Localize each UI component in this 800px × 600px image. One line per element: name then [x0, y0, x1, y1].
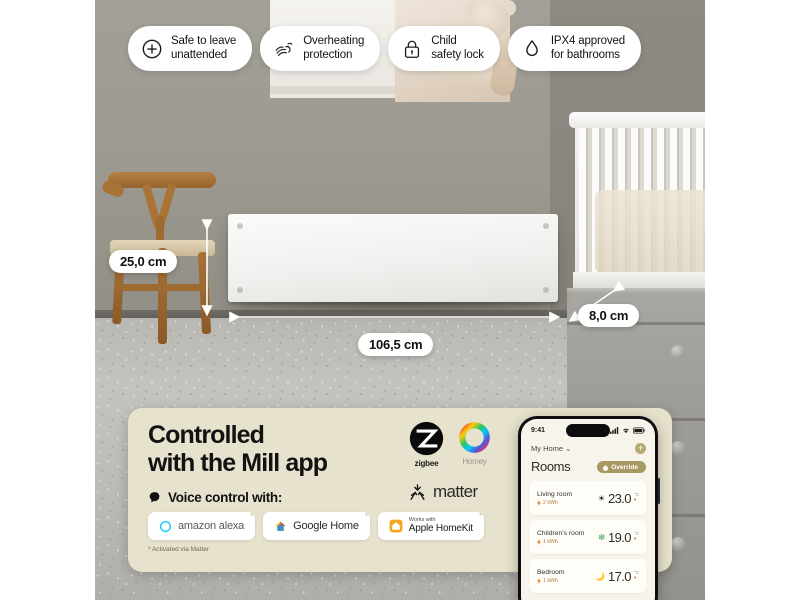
- override-button[interactable]: Override: [597, 461, 646, 473]
- footnote-star: *: [250, 513, 253, 520]
- feature-badge-ipx4: IPX4 approved for bathrooms: [508, 26, 641, 71]
- dresser-knob: [671, 345, 685, 359]
- room-info: Bedroom 1 kWh: [537, 569, 565, 584]
- alexa-icon: [159, 520, 172, 533]
- crib-bedding: [595, 190, 705, 274]
- protocol-label: matter: [433, 482, 478, 502]
- heater-mount-dot: [543, 223, 549, 229]
- flame-icon: [603, 464, 608, 471]
- homekit-icon: [389, 519, 403, 533]
- footnote-star: *: [479, 513, 482, 520]
- protocol-zigbee: zigbee: [408, 420, 445, 468]
- phone-side-button: [658, 478, 660, 504]
- room-info: Living room 2 kWh: [537, 491, 572, 506]
- status-time: 9:41: [531, 427, 545, 434]
- room-temp-group: 🌙 17.0 °C ▾: [595, 569, 639, 584]
- assistant-label: Apple HomeKit: [409, 524, 473, 534]
- battery-icon: [633, 427, 645, 434]
- feature-badge-overheating: Overheating protection: [260, 26, 380, 71]
- room-power-value: 1 kWh: [543, 539, 558, 545]
- protocol-logo-group: zigbee Homey: [408, 420, 520, 502]
- feature-badge-label: IPX4 approved for bathrooms: [551, 35, 625, 62]
- dresser-knob: [671, 441, 685, 455]
- homey-icon: [457, 420, 492, 455]
- room-row[interactable]: Children's room 1 kWh ❇ 19.0: [529, 520, 647, 554]
- room-power: 1 kWh: [537, 578, 565, 584]
- chevron-down-icon: ⌄: [565, 444, 571, 453]
- bolt-icon: [537, 539, 541, 545]
- temp-down-arrow: ▾: [634, 576, 639, 581]
- phone-screen: 9:41: [521, 419, 655, 600]
- crib-top-rail: [569, 112, 705, 128]
- room-power: 2 kWh: [537, 500, 572, 506]
- footnote-star: *: [365, 513, 368, 520]
- google-home-icon: [274, 520, 287, 533]
- protocol-matter: matter: [408, 482, 520, 502]
- water-drop-icon: [521, 38, 543, 60]
- assistant-badge-alexa[interactable]: amazon alexa *: [148, 512, 255, 540]
- dynamic-island: [566, 424, 610, 437]
- assistant-badge-apple-homekit[interactable]: Works with Apple HomeKit *: [378, 512, 484, 540]
- temperature-unit: °C ▾: [634, 532, 639, 542]
- feature-badge-label: Safe to leave unattended: [171, 35, 236, 62]
- mill-app-panel: Controlled with the Mill app Voice contr…: [128, 408, 672, 572]
- room-temperature: 17.0: [608, 569, 631, 584]
- add-device-button[interactable]: +: [635, 443, 646, 454]
- room-row[interactable]: Living room 2 kWh ☀ 23.0: [529, 481, 647, 515]
- room-name: Children's room: [537, 530, 584, 537]
- feature-badge-label: Overheating protection: [303, 35, 364, 62]
- voice-control-label: Voice control with:: [168, 490, 282, 505]
- bolt-icon: [537, 500, 541, 506]
- status-icons-group: [610, 427, 645, 434]
- dresser-knob: [671, 537, 685, 551]
- heater-mount-dot: [237, 287, 243, 293]
- window-sill: [270, 86, 410, 94]
- feature-badge-row: Safe to leave unattended Overheating pro…: [128, 26, 641, 71]
- temp-down-arrow: ▾: [634, 537, 639, 542]
- chair-backrest: [108, 172, 216, 188]
- room-temp-group: ☀ 23.0 °C ▾: [598, 491, 639, 506]
- moon-icon: 🌙: [595, 572, 605, 581]
- home-selector[interactable]: My Home ⌄: [531, 444, 571, 453]
- protocol-homey: Homey: [457, 420, 492, 466]
- assistant-badge-google-home[interactable]: Google Home *: [263, 512, 370, 540]
- protocol-label: zigbee: [415, 459, 439, 468]
- feature-badge-label: Child safety lock: [431, 35, 484, 62]
- temp-down-arrow: ▾: [634, 498, 639, 503]
- padlock-icon: [401, 38, 423, 60]
- room-power: 1 kWh: [537, 539, 584, 545]
- rooms-heading: Rooms: [531, 459, 570, 474]
- room-power-value: 2 kWh: [543, 500, 558, 506]
- product-marketing-image: 25,0 cm 106,5 cm 8,0 cm Safe to leave un…: [0, 0, 800, 600]
- dimension-width-label: 106,5 cm: [358, 333, 433, 356]
- room-name: Living room: [537, 491, 572, 498]
- voice-control-row: Voice control with:: [148, 490, 282, 505]
- feature-badge-safe-to-leave: Safe to leave unattended: [128, 26, 252, 71]
- assistant-label: amazon alexa: [178, 520, 244, 532]
- room-temp-group: ❇ 19.0 °C ▾: [598, 530, 639, 545]
- matter-icon: [408, 483, 427, 502]
- matter-footnote: * Activated via Matter: [148, 546, 209, 553]
- temperature-unit: °C ▾: [634, 571, 639, 581]
- bolt-icon: [537, 578, 541, 584]
- home-selector-label: My Home: [531, 444, 563, 453]
- panel-heater-product: [228, 214, 558, 302]
- wifi-icon: [622, 427, 630, 434]
- heat-hand-icon: [273, 38, 295, 60]
- heater-mount-dot: [543, 287, 549, 293]
- mill-headline: Controlled with the Mill app: [148, 422, 327, 477]
- zigbee-icon: [408, 420, 445, 457]
- temperature-unit: °C ▾: [634, 493, 639, 503]
- voice-bubble-icon: [148, 491, 161, 504]
- feature-badge-child-lock: Child safety lock: [388, 26, 500, 71]
- room-info: Children's room 1 kWh: [537, 530, 584, 545]
- room-temperature: 19.0: [608, 530, 631, 545]
- height-dimension-arrow: [200, 218, 214, 318]
- room-temperature: 23.0: [608, 491, 631, 506]
- phone-home-header: My Home ⌄ +: [531, 443, 646, 454]
- room-power-value: 1 kWh: [543, 578, 558, 584]
- rooms-list: Living room 2 kWh ☀ 23.0: [529, 481, 647, 593]
- override-label: Override: [611, 464, 638, 471]
- voice-assistant-badges: amazon alexa * Google Home *: [148, 512, 484, 540]
- room-name: Bedroom: [537, 569, 565, 576]
- sun-icon: ☀: [598, 494, 605, 503]
- leaf-icon: ❇: [598, 533, 605, 542]
- assistant-label: Google Home: [293, 520, 359, 532]
- width-dimension-arrow: [228, 310, 560, 324]
- room-row[interactable]: Bedroom 1 kWh 🌙 17.0: [529, 559, 647, 593]
- dimension-height-label: 25,0 cm: [109, 250, 177, 273]
- dimension-depth-label: 8,0 cm: [578, 304, 639, 327]
- protocol-label: Homey: [462, 457, 486, 466]
- heater-mount-dot: [237, 223, 243, 229]
- phone-mockup: 9:41: [518, 416, 658, 600]
- plus-circle-icon: [141, 38, 163, 60]
- signal-icon: [610, 427, 619, 434]
- chair-rail: [114, 284, 206, 291]
